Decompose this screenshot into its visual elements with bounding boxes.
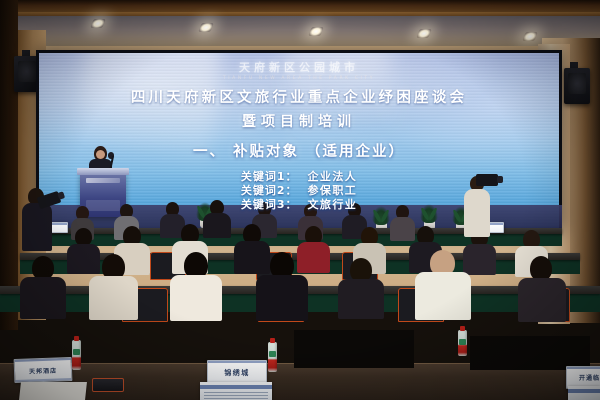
attendee-torso (338, 279, 384, 319)
table-shadow-gap (470, 336, 590, 370)
left-wall-shadow (0, 0, 18, 330)
attendee-torso (67, 244, 100, 274)
keyword-label: 关键词1： (241, 170, 298, 183)
attendee-torso (518, 278, 566, 322)
placard-text: 天邦酒店 (29, 365, 57, 375)
table-shadow-gap (294, 330, 414, 368)
slide-title-line1: 四川天府新区文旅行业重点企业纾困座谈会 (39, 86, 559, 107)
placard-text: 锦绣城 (224, 368, 249, 378)
attendee-torso (297, 242, 330, 273)
slide-keyword-item: 关键词1：企业法人 (241, 170, 357, 184)
attendee-torso (89, 276, 138, 320)
bottle-label (73, 349, 80, 355)
slide-subtitle: 一、 补贴对象 （适用企业） (39, 140, 559, 161)
wall-speaker-right (564, 68, 590, 104)
slide-keyword-list: 关键词1：企业法人 关键词2：参保职工 关键词3：文旅行业 (241, 170, 357, 212)
smartphone (92, 378, 124, 392)
attendee-torso (170, 275, 222, 321)
slide-watermark-cn: 天府新区公园城市 (39, 59, 559, 75)
bottle-label (459, 339, 466, 345)
keyword-value: 文旅行业 (308, 198, 358, 211)
keyword-value: 参保职工 (308, 184, 358, 197)
document-header-bar (568, 389, 600, 393)
water-bottle (268, 342, 277, 372)
water-bottle (458, 330, 467, 356)
slide-content: 天府新区公园城市 TIANFU NEW AREA THE PARK CITY 四… (39, 59, 559, 212)
document (568, 386, 600, 400)
attendee-torso (234, 241, 270, 274)
placard-top-bar (15, 358, 71, 362)
placard-top-bar (208, 361, 266, 363)
document-line (204, 398, 268, 399)
attendee-torso (390, 217, 415, 241)
bottle-label (269, 351, 276, 357)
led-screen-frame: 天府新区公园城市 TIANFU NEW AREA THE PARK CITY 四… (36, 50, 562, 232)
conference-photo: 天府新区公园城市 TIANFU NEW AREA THE PARK CITY 四… (0, 0, 600, 400)
document-header-bar (200, 385, 272, 389)
notepad (19, 382, 87, 400)
placard-text: 开通临江 (579, 373, 600, 382)
attendee-torso (415, 272, 471, 320)
attendee-torso (463, 244, 496, 275)
document-line (204, 392, 268, 393)
attendee-torso (20, 277, 66, 319)
water-bottle (72, 340, 81, 370)
placard-top-bar (567, 367, 600, 369)
led-screen: 天府新区公园城市 TIANFU NEW AREA THE PARK CITY 四… (39, 53, 559, 229)
slide-title-line2: 暨项目制培训 (39, 111, 559, 131)
slide-keyword-item: 关键词2：参保职工 (241, 184, 357, 198)
document-line (204, 395, 268, 396)
document (200, 382, 272, 400)
slide-keyword-item: 关键词3：文旅行业 (241, 198, 357, 212)
slide-watermark-en: TIANFU NEW AREA THE PARK CITY (39, 76, 559, 81)
keyword-label: 关键词3： (241, 198, 298, 211)
keyword-label: 关键词2： (241, 184, 298, 197)
attendee-torso (203, 213, 231, 238)
attendee-torso (256, 275, 308, 321)
table-placard: 天邦酒店 (14, 357, 73, 383)
keyword-value: 企业法人 (308, 170, 358, 183)
